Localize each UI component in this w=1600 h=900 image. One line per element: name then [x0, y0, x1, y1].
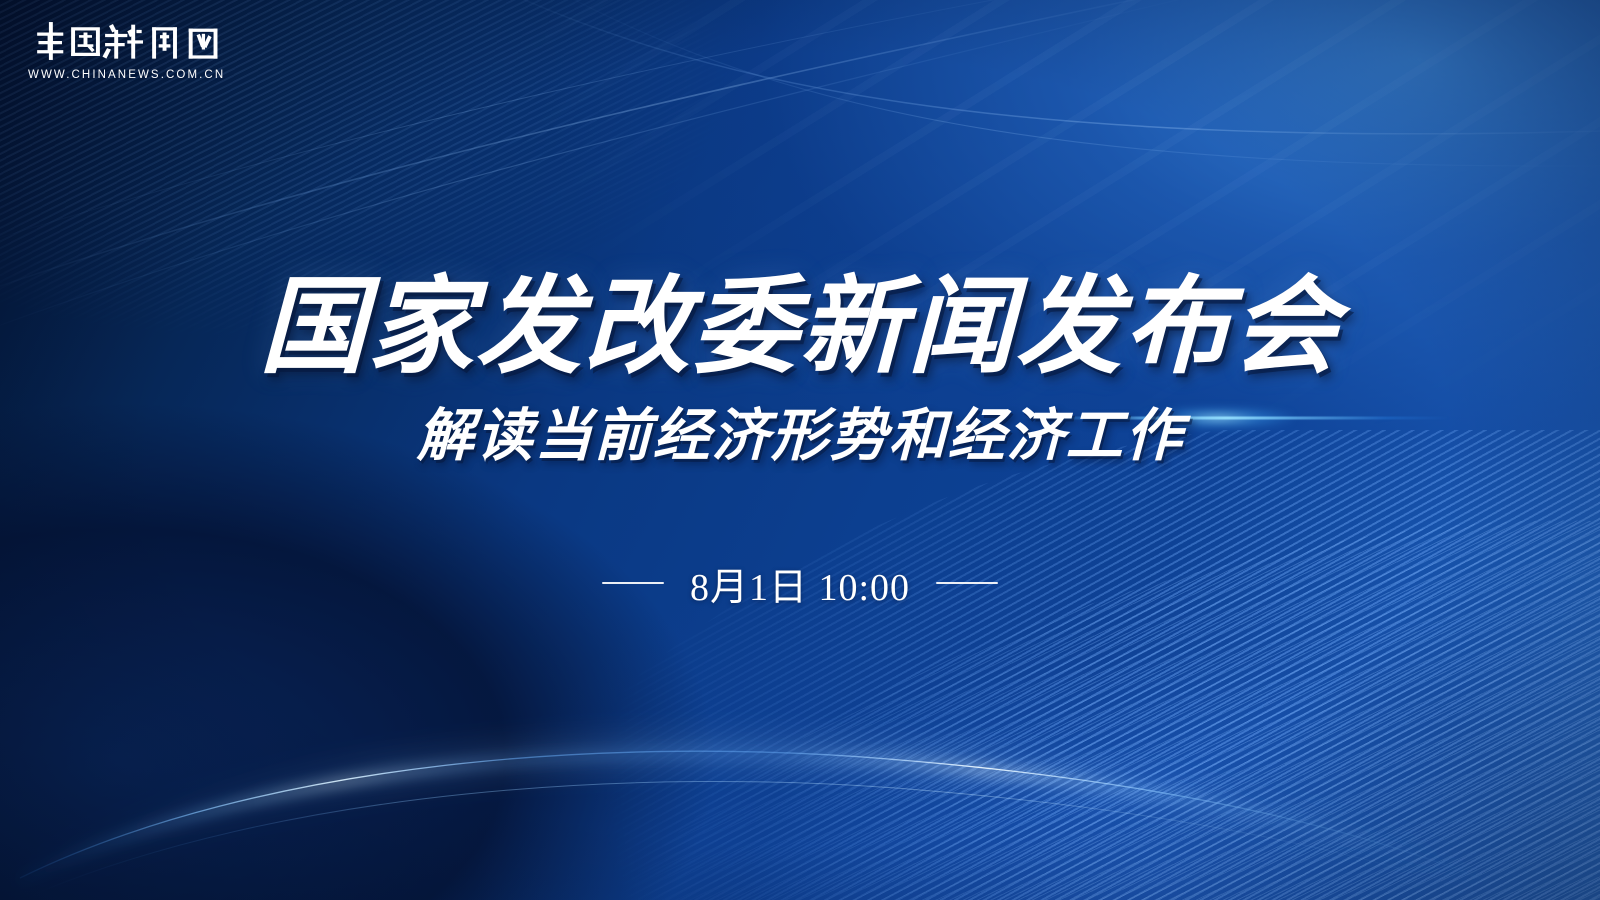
page-title: 国家发改委新闻发布会	[259, 272, 1341, 383]
vignette-overlay	[0, 0, 1600, 900]
curved-sweep-lines	[0, 0, 1600, 900]
rule-right	[936, 582, 998, 584]
lens-flare-streak	[1020, 404, 1450, 432]
datetime-text: 8月1日 10:00	[690, 556, 910, 611]
chinanews-logo-url: WWW.CHINANEWS.COM.CN	[28, 69, 238, 81]
light-beam-streaks	[0, 0, 1600, 900]
poster-stage: WWW.CHINANEWS.COM.CN 国家发改委新闻发布会 解读当前经济形势…	[0, 0, 1600, 900]
glowing-arc	[0, 0, 1600, 900]
datetime-row: 8月1日 10:00	[602, 556, 998, 611]
rule-left	[602, 582, 664, 584]
chinanews-logo-icon	[28, 18, 224, 64]
poster-content: 国家发改委新闻发布会 解读当前经济形势和经济工作 8月1日 10:00	[0, 0, 1600, 900]
page-subtitle: 解读当前经济形势和经济工作	[416, 405, 1184, 468]
dense-curved-fan-lines	[380, 430, 1600, 900]
diagonal-hatch-pattern	[0, 0, 1600, 900]
chinanews-logo[interactable]: WWW.CHINANEWS.COM.CN	[28, 18, 238, 81]
